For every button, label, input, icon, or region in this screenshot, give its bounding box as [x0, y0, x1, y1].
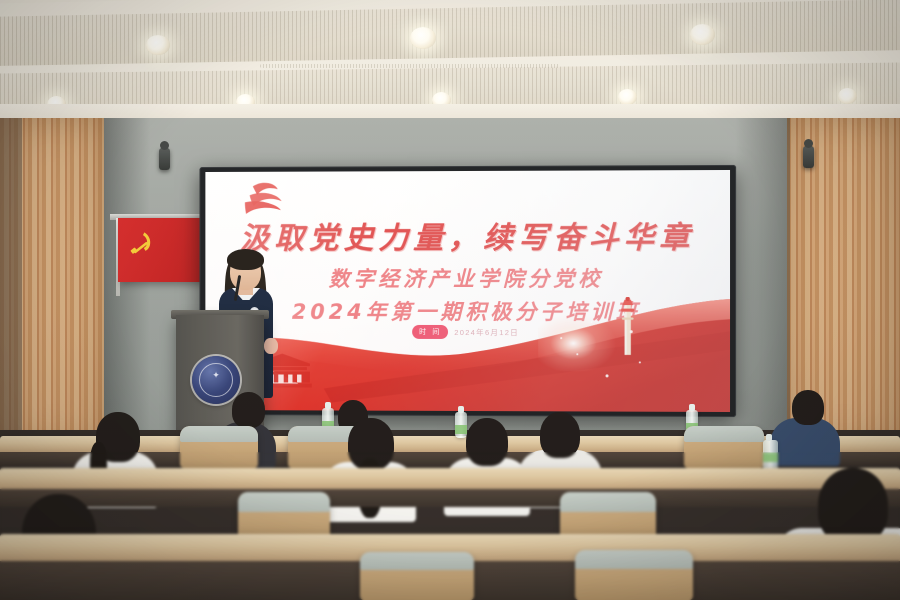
attendee-head [792, 390, 824, 425]
screen-content: 汲取党史力量，续写奋斗华章 数字经济产业学院分党校 2024年第一期积极分子培训… [205, 170, 730, 412]
attendee-head [232, 392, 265, 428]
wall-shadow-left [104, 118, 150, 448]
wall-speaker-left [159, 148, 170, 170]
attendee-body [770, 418, 840, 466]
hammer-sickle-icon [127, 229, 155, 257]
desk-front-row-2 [0, 489, 900, 507]
attendee-head [818, 468, 888, 544]
water-bottle [455, 412, 467, 438]
sparkle-burst-icon [538, 313, 617, 371]
cpc-hammer-sickle-emblem-icon [238, 178, 289, 218]
ceiling-downlight [146, 35, 170, 55]
red-ribbon-graphic [205, 293, 730, 412]
sparkle-dot [576, 353, 579, 356]
chair [575, 550, 693, 600]
ceiling-downlight [690, 24, 715, 45]
chair [360, 552, 474, 600]
ceiling-downlight [410, 27, 436, 49]
attendee-head [540, 412, 580, 458]
chair [684, 426, 764, 468]
auditorium-photo: 汲取党史力量，续写奋斗华章 数字经济产业学院分党校 2024年第一期积极分子培训… [0, 0, 900, 600]
ceiling-downlight [838, 88, 857, 104]
ceiling-rail [260, 64, 560, 68]
wall-edge-left [0, 118, 22, 448]
led-display-screen[interactable]: 汲取党史力量，续写奋斗华章 数字经济产业学院分党校 2024年第一期积极分子培训… [199, 165, 736, 417]
sparkle-dot [606, 374, 609, 377]
attendee-head [466, 418, 508, 466]
speaker-hair-top [227, 249, 264, 270]
headline-subtitle-1: 数字经济产业学院分党校 [205, 263, 730, 293]
wall-shadow-right [735, 118, 790, 448]
sparkle-dot [560, 337, 562, 339]
seal-glyph: ✦ [192, 370, 240, 380]
speaker-hand [264, 338, 278, 354]
wall-speaker-right [803, 146, 814, 168]
headline-main: 汲取党史力量，续写奋斗华章 [205, 212, 730, 257]
desk-row-2 [0, 468, 900, 490]
university-crest-seal: ✦ [192, 356, 240, 404]
chair [180, 426, 258, 468]
sparkle-dot [590, 321, 592, 323]
sparkle-dot [639, 361, 641, 363]
ceiling-downlight [618, 89, 637, 105]
sparkle-dot [630, 330, 633, 333]
huabiao-pillar-icon [619, 297, 637, 359]
